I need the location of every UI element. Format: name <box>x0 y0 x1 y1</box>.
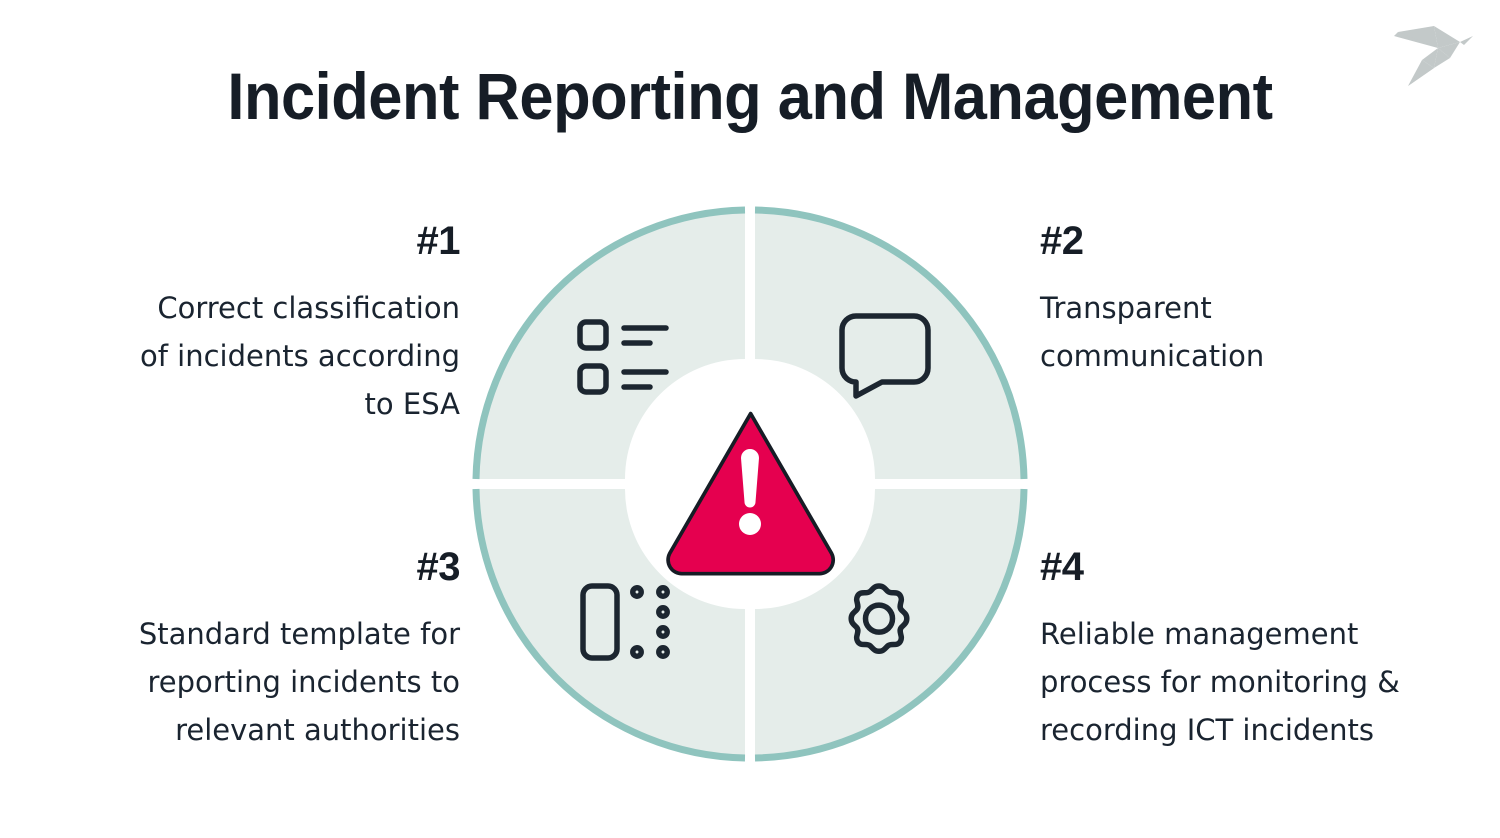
item-2-block: #2 Transparent communication <box>1040 220 1440 380</box>
item-2-number: #2 <box>1040 220 1440 262</box>
page-title: Incident Reporting and Management <box>53 58 1448 134</box>
item-3-block: #3 Standard template for reporting incid… <box>60 546 460 754</box>
item-1-number: #1 <box>60 220 460 262</box>
item-2-text: Transparent communication <box>1040 284 1440 380</box>
incident-wheel-diagram <box>470 204 1030 764</box>
item-4-block: #4 Reliable management process for monit… <box>1040 546 1440 754</box>
item-1-text: Correct classification of incidents acco… <box>60 284 460 428</box>
item-3-number: #3 <box>60 546 460 588</box>
item-4-text: Reliable management process for monitori… <box>1040 610 1440 754</box>
item-3-text: Standard template for reporting incident… <box>60 610 460 754</box>
item-1-block: #1 Correct classification of incidents a… <box>60 220 460 428</box>
slide-canvas: Incident Reporting and Management <box>0 0 1500 838</box>
item-4-number: #4 <box>1040 546 1440 588</box>
